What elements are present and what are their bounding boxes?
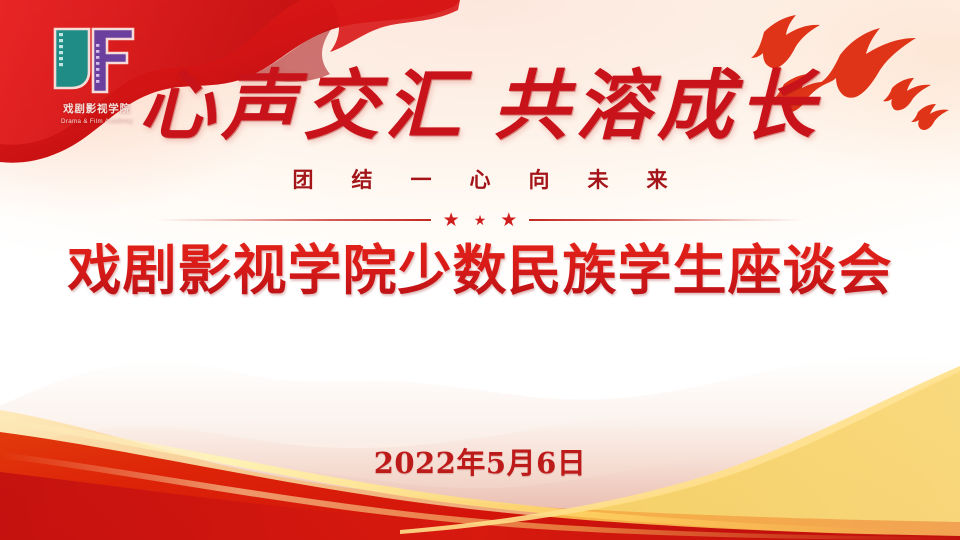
divider-stars: ★ ★ ★ [431, 211, 530, 230]
subtitle: 团结一心向未来 [0, 164, 960, 194]
star-icon: ★ [500, 211, 517, 230]
banner-canvas: 戏剧影视学院 Drama & Film Academy 心声交汇共溶成长 团结一… [0, 0, 960, 540]
red-gold-ribbon-waves [0, 340, 960, 540]
star-divider: ★ ★ ★ [155, 209, 805, 231]
calligraphy-part-1: 心声交汇 [139, 61, 467, 150]
divider-line-right [529, 219, 805, 221]
page-title: 戏剧影视学院少数民族学生座谈会 [0, 240, 960, 302]
calligraphy-part-2: 共溶成长 [493, 61, 821, 150]
divider-line-left [155, 219, 431, 221]
star-icon: ★ [474, 213, 487, 227]
calligraphy-title: 心声交汇共溶成长 [0, 68, 960, 144]
star-icon: ★ [443, 211, 460, 230]
